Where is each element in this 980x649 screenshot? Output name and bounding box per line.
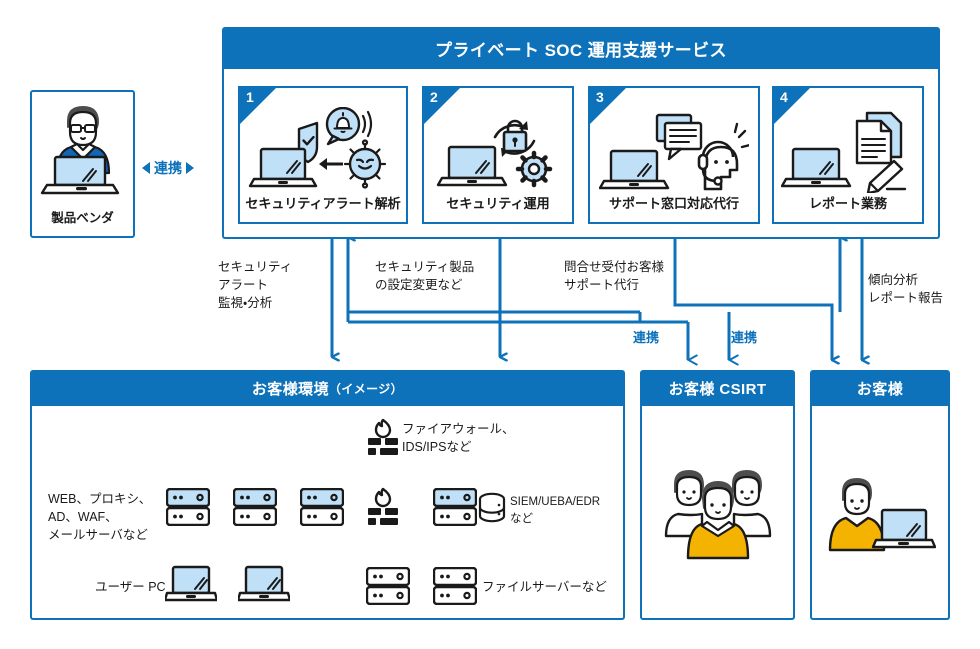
server-rack-icon (433, 567, 477, 605)
server-rack-icon (300, 488, 344, 526)
laptop-lock-refresh-gear-icon (424, 106, 572, 194)
card-number: 3 (596, 90, 604, 104)
card-number: 2 (430, 90, 438, 104)
customer-env-title: お客様環境 (252, 378, 329, 399)
service-card-4[interactable]: 4 (772, 86, 924, 224)
triangle-right-icon (186, 162, 194, 174)
flow-label-alert: セキュリティ アラート 監視・分析 (218, 258, 318, 312)
siem-label: SIEM/UEBA/EDR など (510, 494, 630, 527)
flow-label-support: 問合せ受付お客様 サポート代行 (564, 258, 694, 294)
server-rack-icon (166, 488, 210, 526)
laptop-icon (165, 565, 217, 607)
firewall-icon (365, 487, 411, 527)
card-number: 4 (780, 90, 788, 104)
service-card-2[interactable]: 2 (422, 86, 574, 224)
flow-label-report: 傾向分析 レポート報告 (868, 271, 978, 307)
file-servers-label: ファイルサーバーなど (482, 578, 632, 596)
service-card-1-label: セキュリティアラート解析 (240, 193, 406, 212)
server-rack-icon (366, 567, 410, 605)
vendor-box[interactable]: 製品ベンダ (30, 90, 135, 238)
renkei-label-csirt: 連携 (633, 327, 659, 346)
service-card-3-label: サポート窓口対応代行 (590, 193, 758, 212)
customer-title: お客様 (857, 378, 903, 399)
flow-label-config: セキュリティ製品 の設定変更など (375, 258, 505, 294)
customer-header: お客様 (810, 370, 950, 406)
person-at-laptop-icon (32, 98, 133, 198)
laptop-icon (238, 565, 290, 607)
card-number: 1 (246, 90, 254, 104)
diagram-canvas: プライベート SOC 運用支援サービス 1 (0, 0, 980, 649)
server-database-icon (478, 492, 506, 524)
laptop-chat-headset-icon (590, 106, 758, 194)
service-card-3[interactable]: 3 (588, 86, 760, 224)
service-panel-header: プライベート SOC 運用支援サービス (222, 27, 940, 69)
csirt-title: お客様 CSIRT (669, 378, 767, 399)
three-people-icon (662, 468, 774, 560)
firewall-top-label: ファイアウォール、 IDS/IPSなど (402, 420, 532, 456)
vendor-caption: 製品ベンダ (32, 207, 133, 226)
vendor-link-label: 連携 (154, 158, 182, 178)
server-rack-icon (433, 488, 477, 526)
customer-env-title-suffix: （イメージ） (329, 380, 403, 397)
csirt-header: お客様 CSIRT (640, 370, 795, 406)
server-rack-icon (233, 488, 277, 526)
customer-env-header: お客様環境（イメージ） (30, 370, 625, 406)
service-card-2-label: セキュリティ運用 (424, 193, 572, 212)
service-card-1[interactable]: 1 (238, 86, 408, 224)
person-with-laptop-icon (826, 478, 936, 554)
triangle-left-icon (142, 162, 150, 174)
renkei-label-customer: 連携 (731, 327, 757, 346)
vendor-link-badge: 連携 (142, 158, 194, 178)
service-panel-title: プライベート SOC 運用支援サービス (435, 36, 727, 61)
laptop-document-pencil-icon (774, 106, 922, 194)
service-card-4-label: レポート業務 (774, 193, 922, 212)
laptop-shield-alert-virus-icon (240, 106, 406, 194)
